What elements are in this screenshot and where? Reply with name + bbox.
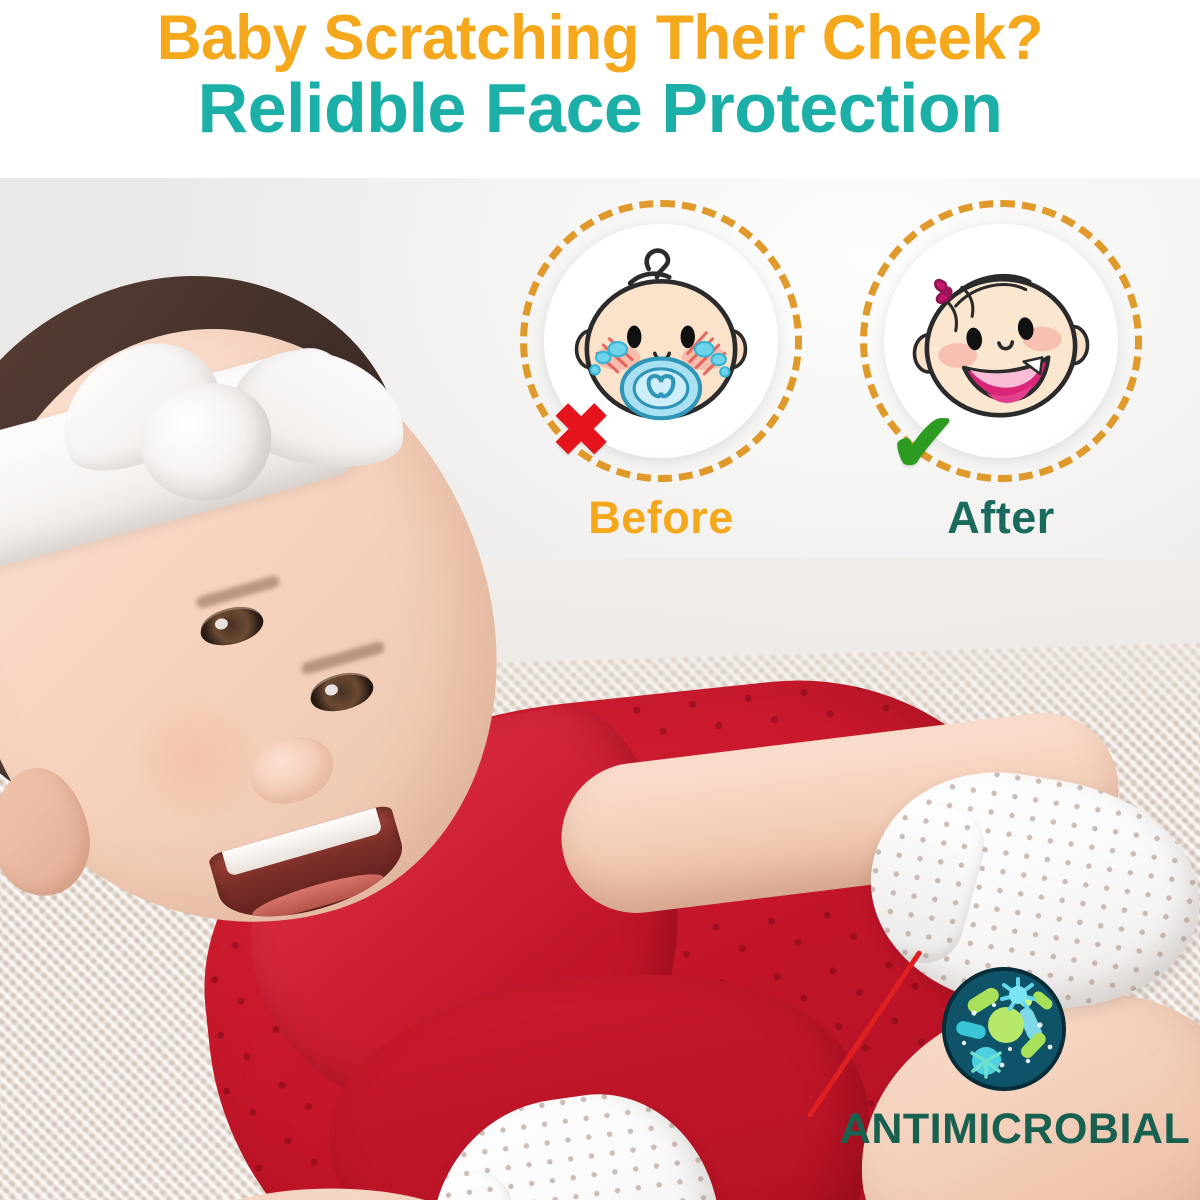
product-marketing-image: Baby Scratching Their Cheek? Relidble Fa… bbox=[0, 0, 1200, 1200]
after-label: After bbox=[860, 492, 1142, 544]
headline-line-2: Relidble Face Protection bbox=[198, 72, 1003, 145]
baby-cheek-blush bbox=[120, 698, 270, 818]
before-item: ✖ Before bbox=[520, 200, 820, 482]
antimicrobial-label: ANTIMICROBIAL bbox=[830, 1105, 1200, 1154]
before-label: Before bbox=[520, 492, 802, 544]
bacteria-circle-icon bbox=[940, 965, 1068, 1093]
green-check-mark: ✔ bbox=[889, 403, 958, 485]
after-item: ✔ After bbox=[860, 200, 1160, 482]
after-dashed-ring: ✔ bbox=[860, 200, 1142, 482]
before-after-comparison: ✖ Before bbox=[520, 200, 1160, 540]
red-x-mark: ✖ bbox=[551, 395, 611, 467]
antimicrobial-badge: ANTIMICROBIAL bbox=[830, 965, 1200, 1190]
before-dashed-ring: ✖ bbox=[520, 200, 802, 482]
headline-banner: Baby Scratching Their Cheek? Relidble Fa… bbox=[0, 0, 1200, 178]
headline-line-1: Baby Scratching Their Cheek? bbox=[157, 6, 1043, 70]
